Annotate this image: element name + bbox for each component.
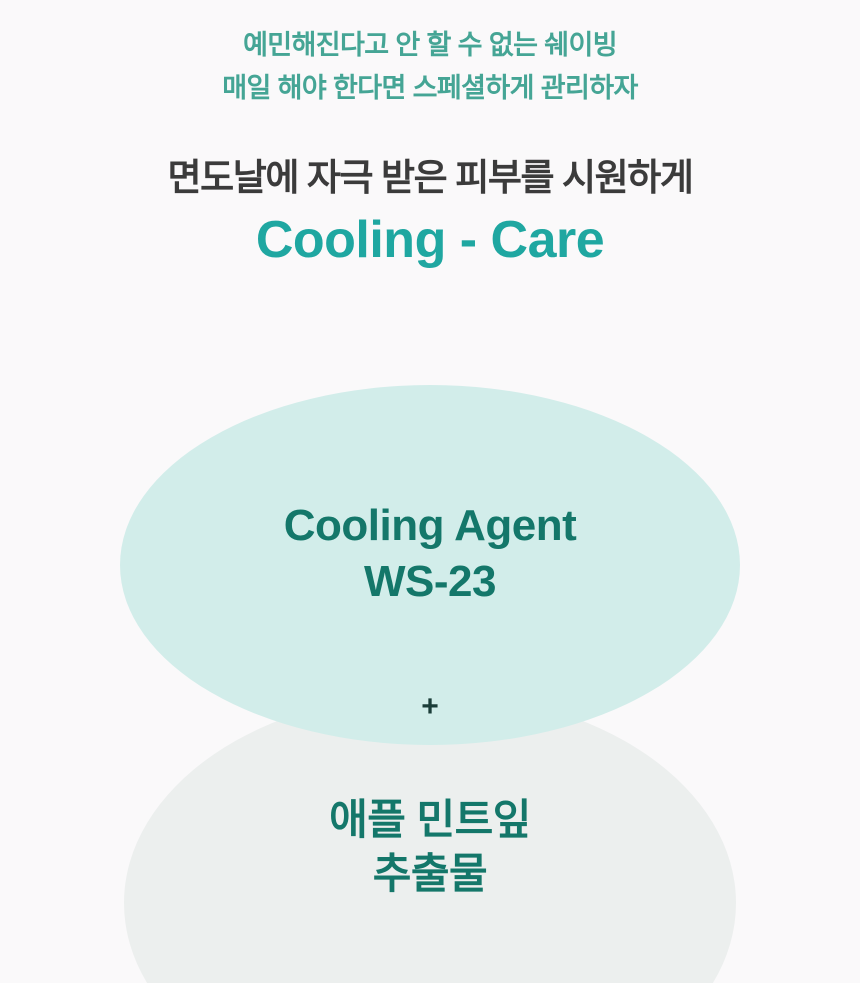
plus-icon: + [0,692,860,722]
eyebrow-text: 예민해진다고 안 할 수 없는 쉐이빙 매일 해야 한다면 스페셜하게 관리하자 [0,24,860,109]
page-subtitle: Cooling - Care [0,209,860,271]
ingredient-label-bottom: 애플 민트잎 추출물 [0,793,860,901]
eyebrow-line-1: 예민해진다고 안 할 수 없는 쉐이빙 [0,24,860,67]
page-title: 면도날에 자극 받은 피부를 시원하게 [0,156,860,200]
ingredient-label-top: Cooling Agent WS-23 [0,498,860,611]
ingredient-bottom-line1: 애플 민트잎 [0,793,860,847]
eyebrow-line-2: 매일 해야 한다면 스페셜하게 관리하자 [0,67,860,110]
promo-page: Cooling Agent WS-23 + 애플 민트잎 추출물 예민해진다고 … [0,0,860,983]
header-block: 예민해진다고 안 할 수 없는 쉐이빙 매일 해야 한다면 스페셜하게 관리하자… [0,0,860,271]
ingredient-top-line1: Cooling Agent [0,498,860,554]
ingredient-bottom-line2: 추출물 [0,847,860,901]
ingredient-top-line2: WS-23 [0,554,860,610]
